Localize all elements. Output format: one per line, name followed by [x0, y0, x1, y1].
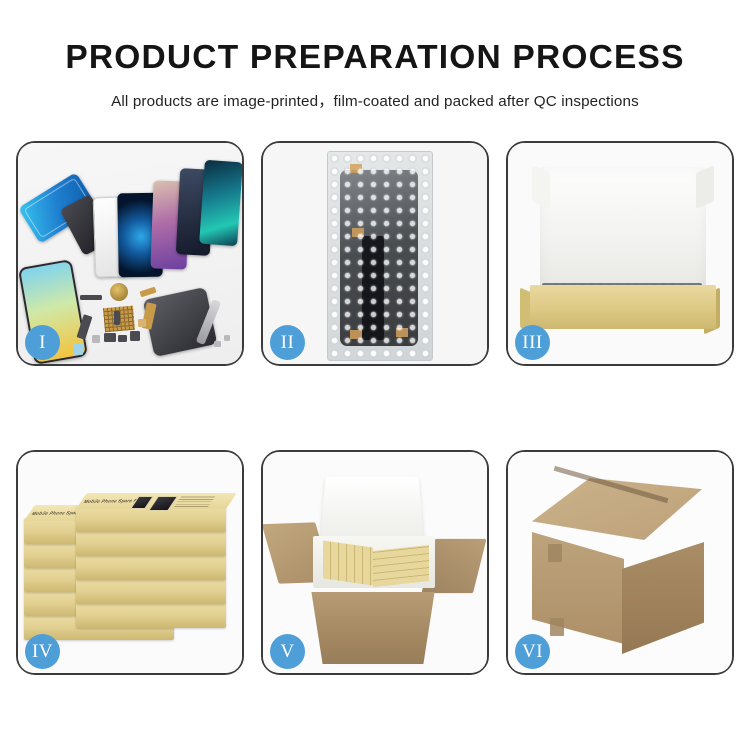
packing-tape: [550, 618, 564, 636]
yellow-kraft-box: [530, 285, 716, 329]
step-panel-1: I: [16, 141, 244, 366]
small-part: [139, 287, 156, 298]
page-title: PRODUCT PREPARATION PROCESS: [0, 0, 750, 77]
camera-part: [130, 331, 140, 341]
small-part: [138, 319, 146, 327]
small-part: [92, 335, 100, 343]
step-badge-1: I: [25, 325, 60, 360]
step-panel-3: III: [506, 141, 734, 366]
bubble-wrap-bag: [327, 151, 433, 361]
packed-yellow-boxes: [323, 540, 373, 585]
step-panel-4: Mobile Phone Spare Parts Mobile Phone Sp…: [16, 450, 244, 675]
kraft-box: [76, 554, 226, 580]
carton-front-face: [532, 532, 624, 644]
speaker-part: [110, 283, 128, 301]
box-stack: Mobile Phone Spare Parts Mobile Phone Sp…: [24, 474, 236, 664]
screw-part: [224, 335, 230, 341]
kraft-box: [76, 530, 226, 556]
carton-side-face: [622, 542, 704, 654]
screw-part: [214, 341, 221, 347]
step-panel-6: VI: [506, 450, 734, 675]
step-panel-5: V: [261, 450, 489, 675]
page-subtitle: All products are image-printed，film-coat…: [0, 77, 750, 111]
cardboard-carton: [303, 592, 443, 664]
small-part: [118, 335, 127, 342]
white-foam-lid: [320, 476, 424, 539]
packing-tape: [548, 544, 562, 562]
process-step-grid: I II: [16, 141, 734, 675]
page-header: PRODUCT PREPARATION PROCESS All products…: [0, 0, 750, 111]
teal-display-phone: [199, 160, 242, 246]
small-part: [104, 333, 116, 342]
step-panel-2: II: [261, 141, 489, 366]
packed-yellow-boxes: [373, 545, 429, 587]
small-part: [114, 311, 120, 325]
kraft-box: [76, 578, 226, 604]
kraft-box: [76, 602, 226, 628]
step-badge-2: II: [270, 325, 305, 360]
step-badge-5: V: [270, 634, 305, 669]
kraft-box-top-back: Mobile Phone Spare Parts: [76, 506, 226, 532]
step-badge-4: IV: [25, 634, 60, 669]
bubble-texture: [328, 152, 432, 360]
small-part: [80, 295, 102, 300]
step-badge-6: VI: [515, 634, 550, 669]
white-foam-lid: [540, 167, 706, 291]
small-screen-part: [74, 343, 83, 355]
step-badge-3: III: [515, 325, 550, 360]
